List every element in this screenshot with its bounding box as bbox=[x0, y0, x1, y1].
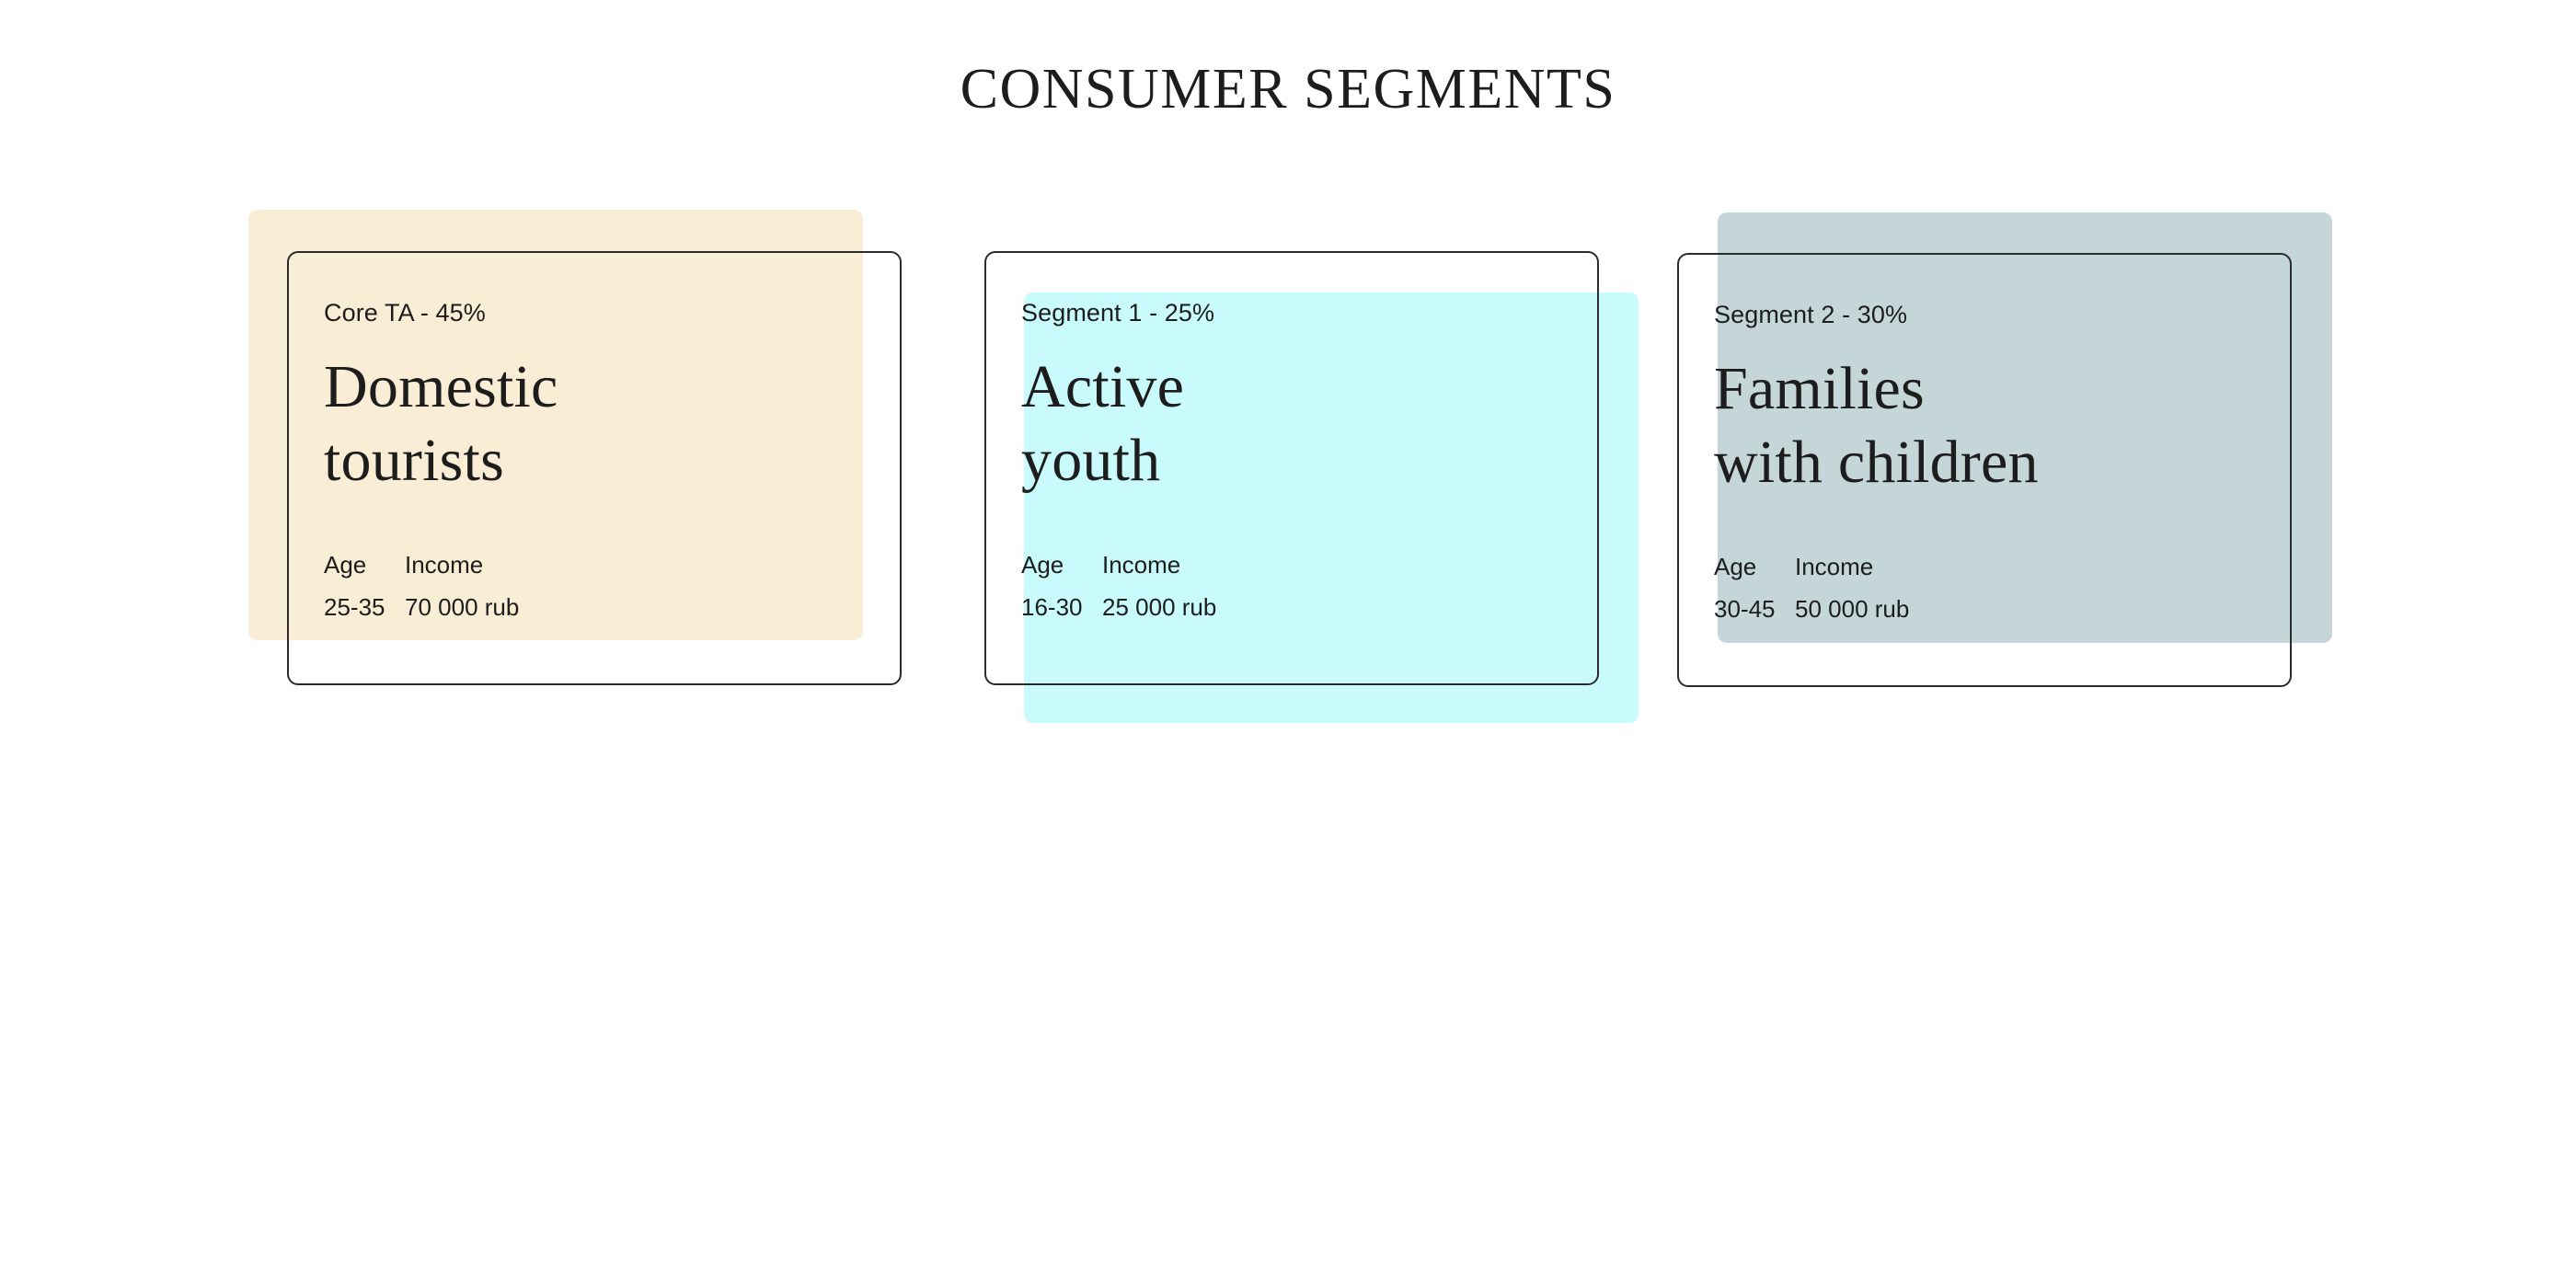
card-heading-line-1: Domestic bbox=[324, 350, 865, 424]
age-label: Age bbox=[1021, 549, 1102, 580]
income-label: Income bbox=[1795, 551, 2034, 582]
age-value: 16-30 bbox=[1021, 591, 1102, 623]
card-content: Core TA - 45% Domestic tourists Age 25-3… bbox=[287, 251, 902, 685]
slide-root: CONSUMER SEGMENTS Core TA - 45% Domestic… bbox=[0, 0, 2576, 1261]
card-heading-line-2: youth bbox=[1021, 424, 1562, 498]
age-label: Age bbox=[1714, 551, 1795, 582]
income-value: 70 000 rub bbox=[405, 591, 644, 623]
age-value: 30-45 bbox=[1714, 593, 1795, 625]
card-content: Segment 2 - 30% Families with children A… bbox=[1677, 253, 2292, 687]
age-value: 25-35 bbox=[324, 591, 405, 623]
segment-card[interactable]: Core TA - 45% Domestic tourists Age 25-3… bbox=[287, 251, 902, 685]
card-eyebrow-label: Segment 1 - 25% bbox=[1021, 299, 1562, 327]
stat-column-age: Age 16-30 bbox=[1021, 549, 1102, 623]
card-heading-line-1: Families bbox=[1714, 352, 2255, 426]
card-eyebrow-label: Core TA - 45% bbox=[324, 299, 865, 327]
card-stats: Age 30-45 Income 50 000 rub bbox=[1714, 551, 2034, 625]
card-heading-line-2: with children bbox=[1714, 426, 2255, 499]
age-label: Age bbox=[324, 549, 405, 580]
segment-cards-container: Core TA - 45% Domestic tourists Age 25-3… bbox=[0, 0, 2576, 1261]
card-heading: Active youth bbox=[1021, 350, 1562, 498]
stat-column-income: Income 50 000 rub bbox=[1795, 551, 2034, 625]
card-stats: Age 16-30 Income 25 000 rub bbox=[1021, 549, 1341, 623]
card-stats: Age 25-35 Income 70 000 rub bbox=[324, 549, 644, 623]
card-heading: Families with children bbox=[1714, 352, 2255, 499]
stat-column-age: Age 25-35 bbox=[324, 549, 405, 623]
card-heading: Domestic tourists bbox=[324, 350, 865, 498]
income-label: Income bbox=[1102, 549, 1341, 580]
income-value: 50 000 rub bbox=[1795, 593, 2034, 625]
segment-card[interactable]: Segment 1 - 25% Active youth Age 16-30 I… bbox=[984, 251, 1599, 685]
stat-column-income: Income 70 000 rub bbox=[405, 549, 644, 623]
card-heading-line-2: tourists bbox=[324, 424, 865, 498]
stat-column-income: Income 25 000 rub bbox=[1102, 549, 1341, 623]
income-value: 25 000 rub bbox=[1102, 591, 1341, 623]
stat-column-age: Age 30-45 bbox=[1714, 551, 1795, 625]
segment-card[interactable]: Segment 2 - 30% Families with children A… bbox=[1677, 253, 2292, 687]
card-eyebrow-label: Segment 2 - 30% bbox=[1714, 301, 2255, 328]
income-label: Income bbox=[405, 549, 644, 580]
card-heading-line-1: Active bbox=[1021, 350, 1562, 424]
card-content: Segment 1 - 25% Active youth Age 16-30 I… bbox=[984, 251, 1599, 685]
